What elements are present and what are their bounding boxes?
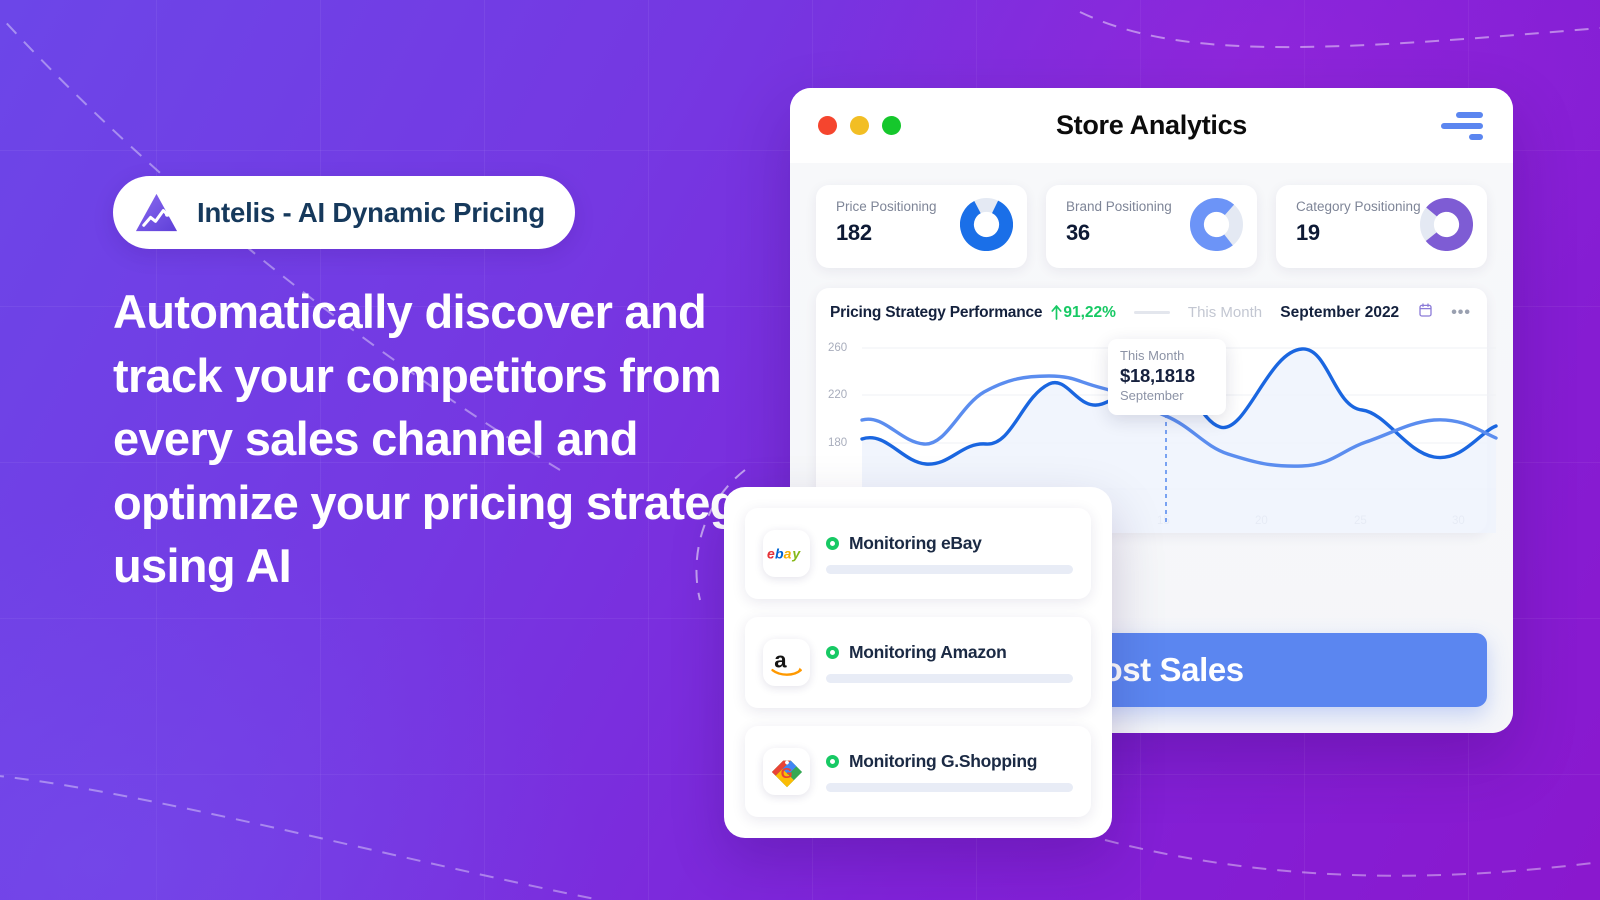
stat-value: 19 (1296, 220, 1421, 246)
legend-swatch (1134, 311, 1170, 314)
stat-card-brand-positioning[interactable]: Brand Positioning 36 (1046, 185, 1257, 268)
hero-section: Intelis - AI Dynamic Pricing Automatical… (113, 176, 813, 598)
monitoring-label: Monitoring eBay (849, 533, 982, 554)
svg-text:a: a (774, 648, 787, 673)
ebay-logo-icon: e b a y (763, 530, 810, 577)
arrow-up-icon (1051, 305, 1062, 320)
monitoring-panel: e b a y Monitoring eBay a Moni (724, 487, 1112, 838)
hero-headline: Automatically discover and track your co… (113, 280, 793, 598)
tooltip-caption: This Month (1120, 348, 1214, 364)
monitoring-card-amazon[interactable]: a Monitoring Amazon (745, 617, 1091, 708)
stat-card-category-positioning[interactable]: Category Positioning 19 (1276, 185, 1487, 268)
window-maximize-button[interactable] (882, 116, 901, 135)
chart-title: Pricing Strategy Performance (830, 304, 1042, 322)
brand-badge: Intelis - AI Dynamic Pricing (113, 176, 575, 249)
chart-delta-value: 91,22% (1063, 304, 1116, 322)
svg-text:e: e (767, 545, 775, 561)
window-titlebar: Store Analytics (790, 88, 1513, 163)
chart-tooltip: This Month $18,1818 September (1108, 339, 1226, 415)
stat-label: Category Positioning (1296, 199, 1421, 214)
donut-chart-icon (1190, 198, 1243, 251)
tooltip-month: September (1120, 388, 1214, 404)
window-close-button[interactable] (818, 116, 837, 135)
progress-bar (826, 783, 1073, 792)
calendar-icon[interactable] (1419, 303, 1432, 322)
more-horizontal-icon[interactable]: ••• (1451, 304, 1471, 322)
status-dot-icon (826, 646, 839, 659)
chart-header: Pricing Strategy Performance 91,22% This… (828, 303, 1475, 322)
mountain-chart-icon (133, 189, 180, 236)
hamburger-icon[interactable] (1441, 111, 1483, 141)
stat-value: 182 (836, 220, 937, 246)
monitoring-label: Monitoring Amazon (849, 642, 1007, 663)
legend-label: This Month (1188, 304, 1262, 321)
donut-chart-icon (960, 198, 1013, 251)
window-minimize-button[interactable] (850, 116, 869, 135)
brand-badge-label: Intelis - AI Dynamic Pricing (197, 197, 545, 229)
monitoring-card-body: Monitoring Amazon (826, 642, 1073, 683)
chart-period-label: September 2022 (1280, 304, 1399, 322)
status-dot-icon (826, 537, 839, 550)
progress-bar (826, 674, 1073, 683)
chart-delta-badge: 91,22% (1051, 304, 1116, 322)
stat-label: Brand Positioning (1066, 199, 1172, 214)
monitoring-card-ebay[interactable]: e b a y Monitoring eBay (745, 508, 1091, 599)
stat-label: Price Positioning (836, 199, 937, 214)
stat-card-list: Price Positioning 182 Brand Positioning … (816, 185, 1487, 268)
svg-text:a: a (783, 545, 791, 561)
stat-value: 36 (1066, 220, 1172, 246)
google-shopping-logo-icon: G (763, 748, 810, 795)
monitoring-card-body: Monitoring G.Shopping (826, 751, 1073, 792)
monitoring-card-google-shopping[interactable]: G Monitoring G.Shopping (745, 726, 1091, 817)
stat-card-price-positioning[interactable]: Price Positioning 182 (816, 185, 1027, 268)
monitoring-label: Monitoring G.Shopping (849, 751, 1037, 772)
status-dot-icon (826, 755, 839, 768)
window-traffic-lights[interactable] (818, 116, 901, 135)
svg-text:y: y (791, 545, 801, 561)
amazon-logo-icon: a (763, 639, 810, 686)
tooltip-amount: $18,1818 (1120, 364, 1214, 388)
progress-bar (826, 565, 1073, 574)
monitoring-card-body: Monitoring eBay (826, 533, 1073, 574)
svg-text:G: G (780, 765, 792, 782)
svg-text:b: b (775, 545, 784, 561)
donut-chart-icon (1420, 198, 1473, 251)
